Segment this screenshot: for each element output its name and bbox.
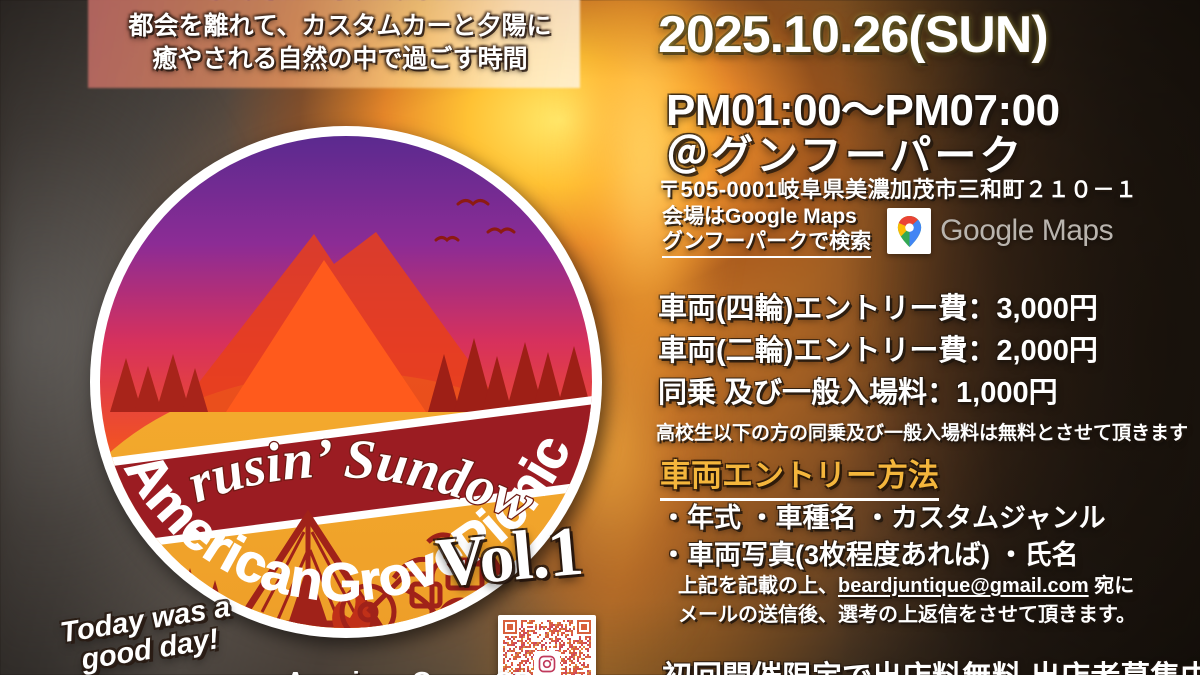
entry-method-heading: 車両エントリー方法: [660, 450, 939, 501]
volume-label: Vol.1: [433, 512, 585, 604]
maps-note-line-1: 会場はGoogle Maps: [662, 204, 871, 229]
mail-instruction-line-2: メールの送信後、選考の上返信をさせて頂きます。: [678, 601, 1136, 630]
tagline-line-2: 癒やされる自然の中で過ごす時間: [60, 43, 620, 76]
entry-mail-instructions: 上記を記載の上、beardjuntique@gmail.com 宛に メールの送…: [678, 572, 1136, 630]
event-details-column: 2025.10.26(SUN) PM01:00〜PM07:00 ＠グンフーパーク…: [650, 0, 1190, 675]
entry-items-line-2: ・車両写真(3枚程度あれば) ・氏名: [660, 537, 1106, 574]
header-text-block: ～Crusin' Sundown～ 都会を離れて、カスタムカーと夕陽に 癒やされ…: [60, 0, 620, 76]
qr-caption: American Grove QR: [286, 666, 533, 675]
event-address: 〒505-0001岐阜県美濃加茂市三和町２１０－１: [658, 172, 1137, 204]
contact-email[interactable]: beardjuntique@gmail.com: [838, 575, 1089, 597]
price-note: 高校生以下の方の同乗及び一般入場料は無料とさせて頂きます: [656, 418, 1188, 445]
tagline-line-1: 都会を離れて、カスタムカーと夕陽に: [60, 10, 620, 43]
google-maps-wordmark: Google Maps: [940, 214, 1113, 248]
google-maps-row: 会場はGoogle Maps グンフーパークで検索 Google Maps: [662, 204, 1113, 258]
tagline-top: ～Crusin' Sundown～: [60, 0, 620, 5]
price-list: 車両(四輪)エントリー費：3,000円 車両(二輪)エントリー費：2,000円 …: [658, 288, 1098, 414]
price-line-general-admission: 同乗 及び一般入場料：1,000円: [658, 372, 1098, 414]
price-line-four-wheel: 車両(四輪)エントリー費：3,000円: [658, 288, 1098, 330]
maps-search-note: 会場はGoogle Maps グンフーパークで検索: [662, 204, 871, 258]
event-date: 2025.10.26(SUN): [658, 5, 1048, 65]
mail-suffix: 宛に: [1089, 575, 1135, 597]
google-maps-logo[interactable]: Google Maps: [887, 208, 1113, 254]
mail-instruction-line-1: 上記を記載の上、beardjuntique@gmail.com 宛に: [678, 572, 1136, 601]
mail-prefix: 上記を記載の上、: [678, 575, 838, 597]
price-line-two-wheel: 車両(二輪)エントリー費：2,000円: [658, 330, 1098, 372]
entry-required-items: ・年式 ・車種名 ・カスタムジャンル ・車両写真(3枚程度あれば) ・氏名: [660, 500, 1106, 575]
instagram-icon: [534, 651, 560, 675]
maps-note-line-2: グンフーパークで検索: [662, 229, 871, 258]
vendor-recruitment-notice: 初回開催限定で出店料無料 出店者募集中!: [662, 652, 1200, 675]
event-flyer: ～Crusin' Sundown～ 都会を離れて、カスタムカーと夕陽に 癒やされ…: [0, 0, 1200, 675]
google-maps-pin-icon: [887, 208, 931, 254]
entry-items-line-1: ・年式 ・車種名 ・カスタムジャンル: [660, 500, 1106, 537]
